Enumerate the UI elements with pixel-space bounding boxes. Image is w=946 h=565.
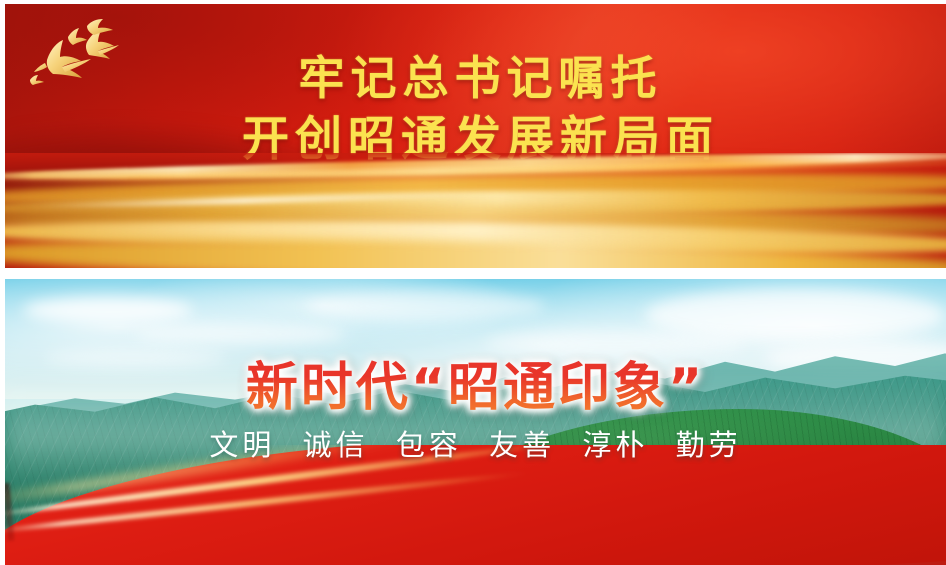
virtue-item: 勤劳	[676, 428, 742, 462]
building	[213, 506, 225, 533]
building	[92, 524, 109, 539]
top-red-banner: 牢记总书记嘱托 开创昭通发展新局面	[5, 4, 946, 268]
gold-silk-ribbon	[5, 153, 946, 268]
cloud	[305, 291, 545, 321]
building	[64, 524, 79, 541]
building	[143, 509, 156, 537]
scenery-headline: 新时代“昭通印象”	[5, 345, 946, 420]
virtue-item: 友善	[489, 428, 555, 462]
red-banner-title-line1: 牢记总书记嘱托	[5, 52, 946, 105]
building	[124, 519, 143, 537]
poster-root: 牢记总书记嘱托 开创昭通发展新局面	[0, 0, 946, 565]
building	[407, 504, 425, 521]
building	[392, 501, 405, 522]
virtues-list: 文明 诚信 包容 友善 淳朴 勤劳	[5, 422, 946, 464]
red-banner-title: 牢记总书记嘱托 开创昭通发展新局面	[5, 52, 946, 168]
virtue-item: 诚信	[303, 428, 369, 462]
building	[176, 513, 190, 535]
cloud	[135, 323, 345, 345]
cloud	[23, 297, 193, 323]
virtue-item: 淳朴	[582, 428, 648, 462]
cloud	[645, 289, 945, 341]
virtue-item: 包容	[396, 428, 462, 462]
bottom-scenery-banner: 新时代“昭通印象” 文明 诚信 包容 友善 淳朴 勤劳	[5, 279, 946, 565]
building	[358, 498, 369, 524]
building	[285, 499, 298, 528]
building	[110, 516, 123, 539]
building	[318, 503, 332, 526]
virtue-item: 文明	[209, 428, 275, 462]
banner-divider	[0, 268, 946, 279]
building	[247, 506, 260, 530]
building	[80, 516, 91, 541]
